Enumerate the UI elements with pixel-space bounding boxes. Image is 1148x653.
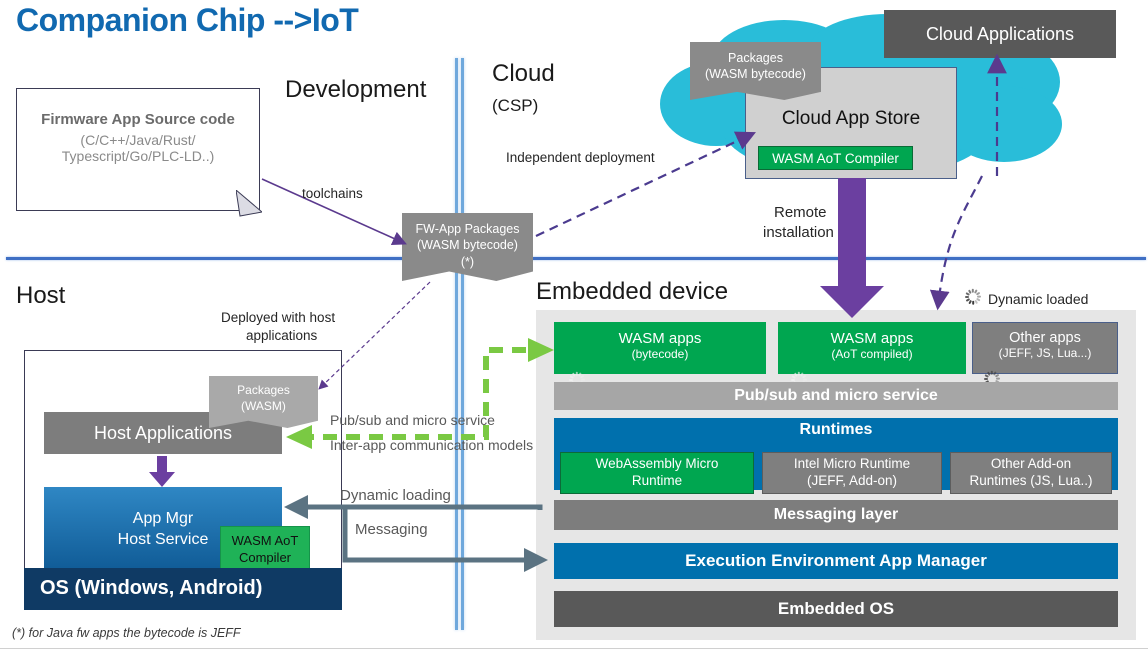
host-purple-arrow-icon (148, 456, 176, 488)
app-mgr-line2: Host Service (118, 530, 209, 551)
cloud-applications-box[interactable]: Cloud Applications (884, 10, 1116, 58)
label-independent-deployment: Independent deployment (506, 150, 655, 166)
cloud-aot-compiler-box[interactable]: WASM AoT Compiler (758, 146, 913, 170)
host-os-bar[interactable]: OS (Windows, Android) (24, 568, 342, 610)
label-pubsub-1: Pub/sub and micro service (330, 412, 495, 429)
label-messaging: Messaging (355, 521, 428, 539)
heading-development: Development (285, 76, 426, 104)
embedded-runtime-0[interactable]: WebAssembly Micro Runtime (560, 452, 754, 494)
fw-app-packages-callout: FW-App Packages (WASM bytecode) (*) (402, 213, 533, 281)
label-dynamic-loading: Dynamic loading (340, 487, 451, 505)
footnote: (*) for Java fw apps the bytecode is JEF… (12, 626, 241, 640)
host-packages-line1: Packages (209, 383, 318, 399)
label-remote-installation-2: installation (763, 224, 834, 242)
embedded-pubsub-bar[interactable]: Pub/sub and micro service (554, 382, 1118, 410)
embedded-app-0[interactable]: WASM apps (bytecode) (554, 322, 766, 374)
embedded-runtime-0-line1: WebAssembly Micro (596, 456, 719, 473)
horizontal-divider (6, 257, 1146, 260)
embedded-runtime-0-line2: Runtime (632, 473, 682, 490)
cloud-packages-line1: Packages (690, 51, 821, 67)
label-pubsub-2: Inter-app communication models (330, 437, 533, 454)
page-title: Companion Chip -->IoT (16, 2, 358, 39)
host-wasm-aot-compiler-box[interactable]: WASM AoT Compiler (220, 526, 310, 574)
fw-packages-line2: (WASM bytecode) (402, 237, 533, 253)
cloud-to-device-arrow (938, 176, 982, 306)
firmware-callout-tail (236, 190, 262, 218)
label-deployed-1: Deployed with host (221, 310, 335, 326)
fw-packages-line3: (*) (402, 254, 533, 270)
embedded-runtime-2-line1: Other Add-on (991, 456, 1071, 473)
embedded-runtime-1-line1: Intel Micro Runtime (794, 456, 910, 473)
heading-embedded-device: Embedded device (536, 278, 728, 306)
embedded-app-1-line2: (AoT compiled) (778, 347, 966, 361)
host-os-label: OS (Windows, Android) (24, 568, 342, 600)
fw-packages-line1: FW-App Packages (402, 221, 533, 237)
embedded-runtimes-title: Runtimes (554, 418, 1118, 439)
embedded-app-0-line1: WASM apps (554, 330, 766, 347)
embedded-os-bar[interactable]: Embedded OS (554, 591, 1118, 627)
firmware-line2: Typescript/Go/PLC-LD..) (27, 148, 249, 164)
firmware-heading: Firmware App Source code (27, 111, 249, 128)
cloud-packages-line2: (WASM bytecode) (690, 67, 821, 83)
legend-dynamic-loaded-label: Dynamic loaded (988, 291, 1088, 308)
remote-installation-arrow (820, 178, 884, 318)
heading-cloud: Cloud (492, 60, 555, 88)
host-aot-line2: Compiler (239, 550, 291, 567)
embedded-runtime-2[interactable]: Other Add-on Runtimes (JS, Lua..) (950, 452, 1112, 494)
embedded-app-manager-bar[interactable]: Execution Environment App Manager (554, 543, 1118, 579)
embedded-app-2-line1: Other apps (973, 330, 1117, 346)
firmware-line1: (C/C++/Java/Rust/ (27, 132, 249, 148)
host-packages-callout: Packages (WASM) (209, 376, 318, 428)
heading-host: Host (16, 282, 65, 310)
label-remote-installation-1: Remote (774, 204, 827, 222)
embedded-messaging-layer-bar[interactable]: Messaging layer (554, 500, 1118, 530)
embedded-app-2[interactable]: Other apps (JEFF, JS, Lua...) (972, 322, 1118, 374)
label-deployed-2: applications (246, 328, 317, 344)
embedded-runtime-2-line2: Runtimes (JS, Lua..) (969, 473, 1092, 490)
app-mgr-line1: App Mgr (133, 509, 193, 530)
host-aot-line1: WASM AoT (232, 533, 299, 550)
vertical-divider (455, 58, 465, 630)
embedded-runtime-1[interactable]: Intel Micro Runtime (JEFF, Add-on) (762, 452, 942, 494)
footer-divider (0, 648, 1148, 649)
embedded-app-1-line1: WASM apps (778, 330, 966, 347)
heading-cloud-sub: (CSP) (492, 96, 538, 116)
firmware-source-box: Firmware App Source code (C/C++/Java/Rus… (16, 88, 260, 211)
host-packages-line2: (WASM) (209, 399, 318, 415)
embedded-app-0-line2: (bytecode) (554, 347, 766, 361)
cloud-packages-callout: Packages (WASM bytecode) (690, 42, 821, 100)
legend-spinner-icon (962, 288, 984, 310)
embedded-app-1[interactable]: WASM apps (AoT compiled) (778, 322, 966, 374)
cloud-app-store-label: Cloud App Store (746, 108, 956, 130)
embedded-app-2-line2: (JEFF, JS, Lua...) (973, 346, 1117, 360)
label-toolchains: toolchains (302, 186, 363, 202)
embedded-runtime-1-line2: (JEFF, Add-on) (807, 473, 897, 490)
